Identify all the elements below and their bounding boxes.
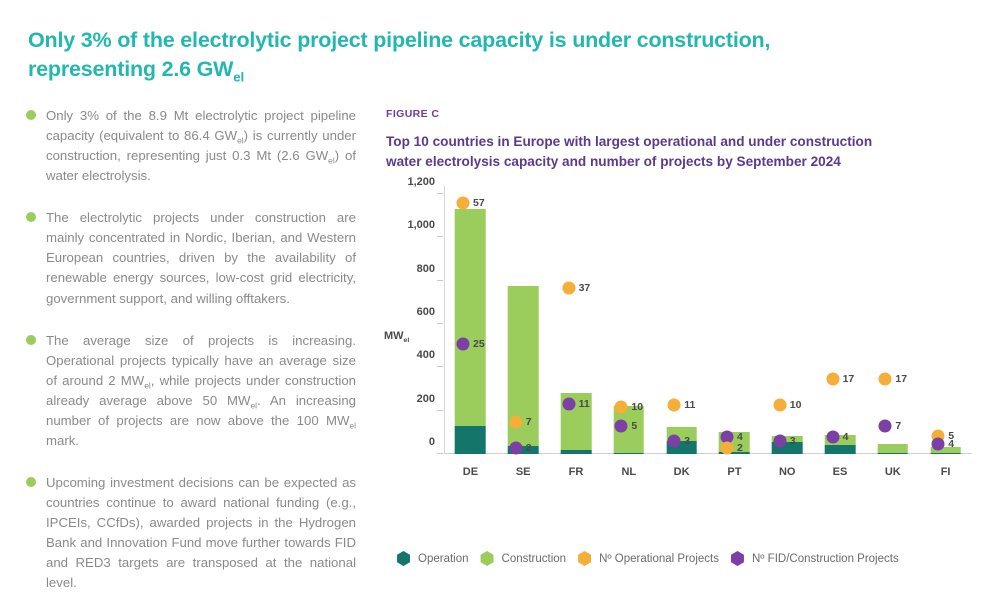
fid-construction-projects-marker[interactable] xyxy=(615,419,628,432)
bar-segment-construction[interactable] xyxy=(877,444,908,453)
unit-subscript: el xyxy=(144,380,151,390)
chart: MWel 02004006008001,0001,200DESEFRNLDKPT… xyxy=(386,186,976,486)
bar-segment-operation[interactable] xyxy=(930,453,961,454)
legend-item[interactable]: Operation xyxy=(396,551,469,566)
x-axis-tick-label: DE xyxy=(444,466,497,478)
bar-group[interactable]: DK xyxy=(655,194,708,454)
bar-group[interactable]: UK xyxy=(866,194,919,454)
fid-construction-projects-marker[interactable] xyxy=(562,397,575,410)
x-axis-tick-label: NO xyxy=(761,466,814,478)
x-axis-tick-label: PT xyxy=(708,466,761,478)
y-axis-tick-mark xyxy=(437,236,443,237)
stacked-bar[interactable] xyxy=(455,209,486,454)
unit-subscript: el xyxy=(237,136,244,146)
bullet-text: mark. xyxy=(46,433,79,448)
operational-projects-marker[interactable] xyxy=(562,282,575,295)
marker-value-label: 17 xyxy=(843,373,855,385)
legend-item[interactable]: Nº FID/Construction Projects xyxy=(730,551,899,566)
marker-value-label: 2 xyxy=(526,442,532,454)
bar-segment-operation[interactable] xyxy=(455,426,486,454)
y-axis-tick-mark xyxy=(437,193,443,194)
marker-value-label: 4 xyxy=(948,438,954,450)
unit-subscript: el xyxy=(349,420,356,430)
bar-segment-operation[interactable] xyxy=(561,450,592,454)
chart-plot-area: 02004006008001,0001,200DESEFRNLDKPTNOESU… xyxy=(444,194,972,454)
headline-line-1: Only 3% of the electrolytic project pipe… xyxy=(28,28,770,52)
marker-value-label: 10 xyxy=(790,399,802,411)
bar-segment-construction[interactable] xyxy=(455,209,486,426)
legend-label: Construction xyxy=(502,553,567,565)
bar-group[interactable]: DE xyxy=(444,194,497,454)
bullet-dot-icon xyxy=(26,110,36,120)
x-axis-tick-label: SE xyxy=(497,466,550,478)
unit-subscript: el xyxy=(328,156,335,166)
bullet-text: Upcoming investment decisions can be exp… xyxy=(46,475,356,590)
x-axis-tick-label: FI xyxy=(919,466,972,478)
bar-group[interactable]: NO xyxy=(761,194,814,454)
y-axis-tick-label: 800 xyxy=(417,263,435,275)
marker-value-label: 11 xyxy=(684,399,695,411)
bar-group[interactable]: NL xyxy=(602,194,655,454)
bullet-dot-icon xyxy=(26,212,36,222)
fid-construction-projects-marker[interactable] xyxy=(773,434,786,447)
fid-construction-projects-marker[interactable] xyxy=(932,437,945,450)
y-axis-tick-mark xyxy=(437,366,443,367)
x-axis-tick-label: FR xyxy=(550,466,603,478)
insight-bullet: Only 3% of the 8.9 Mt electrolytic proje… xyxy=(26,106,356,186)
marker-value-label: 2 xyxy=(737,442,743,454)
fid-construction-projects-marker[interactable] xyxy=(879,420,892,433)
marker-value-label: 3 xyxy=(684,435,690,447)
bar-group[interactable]: FI xyxy=(919,194,972,454)
bar-group[interactable]: SE xyxy=(497,194,550,454)
stacked-bar[interactable] xyxy=(508,286,539,454)
x-axis-tick-label: UK xyxy=(866,466,919,478)
marker-value-label: 10 xyxy=(631,401,643,413)
legend-item[interactable]: Nº Operational Projects xyxy=(577,551,719,566)
fid-construction-projects-marker[interactable] xyxy=(509,441,522,454)
marker-value-label: 11 xyxy=(579,398,590,410)
y-axis-title-text: MW xyxy=(384,330,404,342)
figure-title-line-1: Top 10 countries in Europe with largest … xyxy=(386,134,872,149)
y-axis-tick-mark xyxy=(437,323,443,324)
insight-bullet: Upcoming investment decisions can be exp… xyxy=(26,473,356,593)
marker-value-label: 25 xyxy=(473,338,485,350)
operational-projects-marker[interactable] xyxy=(457,196,470,209)
marker-value-label: 5 xyxy=(631,420,637,432)
y-axis-tick-label: 200 xyxy=(417,393,435,405)
marker-value-label: 4 xyxy=(843,431,849,443)
bar-segment-operation[interactable] xyxy=(613,453,644,454)
marker-value-label: 17 xyxy=(895,373,907,385)
legend-swatch-icon xyxy=(577,551,592,566)
operational-projects-marker[interactable] xyxy=(879,372,892,385)
marker-value-label: 7 xyxy=(895,420,901,432)
legend-swatch-icon xyxy=(480,551,495,566)
insight-bullet-list: Only 3% of the 8.9 Mt electrolytic proje… xyxy=(26,106,356,615)
operational-projects-marker[interactable] xyxy=(668,398,681,411)
y-axis-tick-label: 1,200 xyxy=(407,176,435,188)
headline-line-2: representing 2.6 GWel xyxy=(28,57,244,81)
legend-label: Nº FID/Construction Projects xyxy=(752,553,899,565)
y-axis-title: MWel xyxy=(384,330,409,342)
fid-construction-projects-marker[interactable] xyxy=(457,337,470,350)
headline-subscript: el xyxy=(233,70,244,85)
figure-header: FIGURE C Top 10 countries in Europe with… xyxy=(386,108,972,171)
stacked-bar[interactable] xyxy=(877,444,908,454)
figure-label: FIGURE C xyxy=(386,108,972,120)
fid-construction-projects-marker[interactable] xyxy=(668,434,681,447)
operational-projects-marker[interactable] xyxy=(615,401,628,414)
legend-label: Operation xyxy=(418,553,469,565)
marker-value-label: 57 xyxy=(473,197,485,209)
figure-title: Top 10 countries in Europe with largest … xyxy=(386,132,972,171)
fid-construction-projects-marker[interactable] xyxy=(826,430,839,443)
y-axis-tick-label: 1,000 xyxy=(407,219,435,231)
marker-value-label: 3 xyxy=(790,435,796,447)
insight-bullet: The average size of projects is increasi… xyxy=(26,331,356,451)
figure-title-line-2: water electrolysis capacity and number o… xyxy=(386,154,841,169)
x-axis-tick-label: ES xyxy=(814,466,867,478)
y-axis-tick-label: 400 xyxy=(417,349,435,361)
y-axis-tick-label: 600 xyxy=(417,306,435,318)
insight-bullet: The electrolytic projects under construc… xyxy=(26,208,356,308)
bar-group[interactable]: ES xyxy=(814,194,867,454)
operational-projects-marker[interactable] xyxy=(509,415,522,428)
operational-projects-marker[interactable] xyxy=(773,398,786,411)
bar-segment-operation[interactable] xyxy=(877,453,908,454)
legend-swatch-icon xyxy=(396,551,411,566)
y-axis-title-subscript: el xyxy=(404,337,410,344)
operational-projects-marker[interactable] xyxy=(826,372,839,385)
page-headline: Only 3% of the electrolytic project pipe… xyxy=(28,26,908,84)
y-axis-tick-mark xyxy=(437,280,443,281)
bar-group[interactable]: FR xyxy=(550,194,603,454)
bullet-text: The electrolytic projects under construc… xyxy=(46,210,356,305)
y-axis-tick-mark xyxy=(437,453,443,454)
marker-value-label: 7 xyxy=(526,416,532,428)
x-axis-tick-label: DK xyxy=(655,466,708,478)
chart-legend: OperationConstructionNº Operational Proj… xyxy=(396,551,976,566)
bullet-dot-icon xyxy=(26,477,36,487)
bullet-dot-icon xyxy=(26,335,36,345)
legend-label: Nº Operational Projects xyxy=(599,553,719,565)
bar-group[interactable]: PT xyxy=(708,194,761,454)
x-axis-tick-label: NL xyxy=(602,466,655,478)
marker-value-label: 37 xyxy=(579,282,591,294)
bar-segment-operation[interactable] xyxy=(825,445,856,454)
y-axis-tick-mark xyxy=(437,410,443,411)
operational-projects-marker[interactable] xyxy=(721,441,734,454)
y-axis-tick-label: 0 xyxy=(429,436,435,448)
legend-swatch-icon xyxy=(730,551,745,566)
legend-item[interactable]: Construction xyxy=(480,551,567,566)
